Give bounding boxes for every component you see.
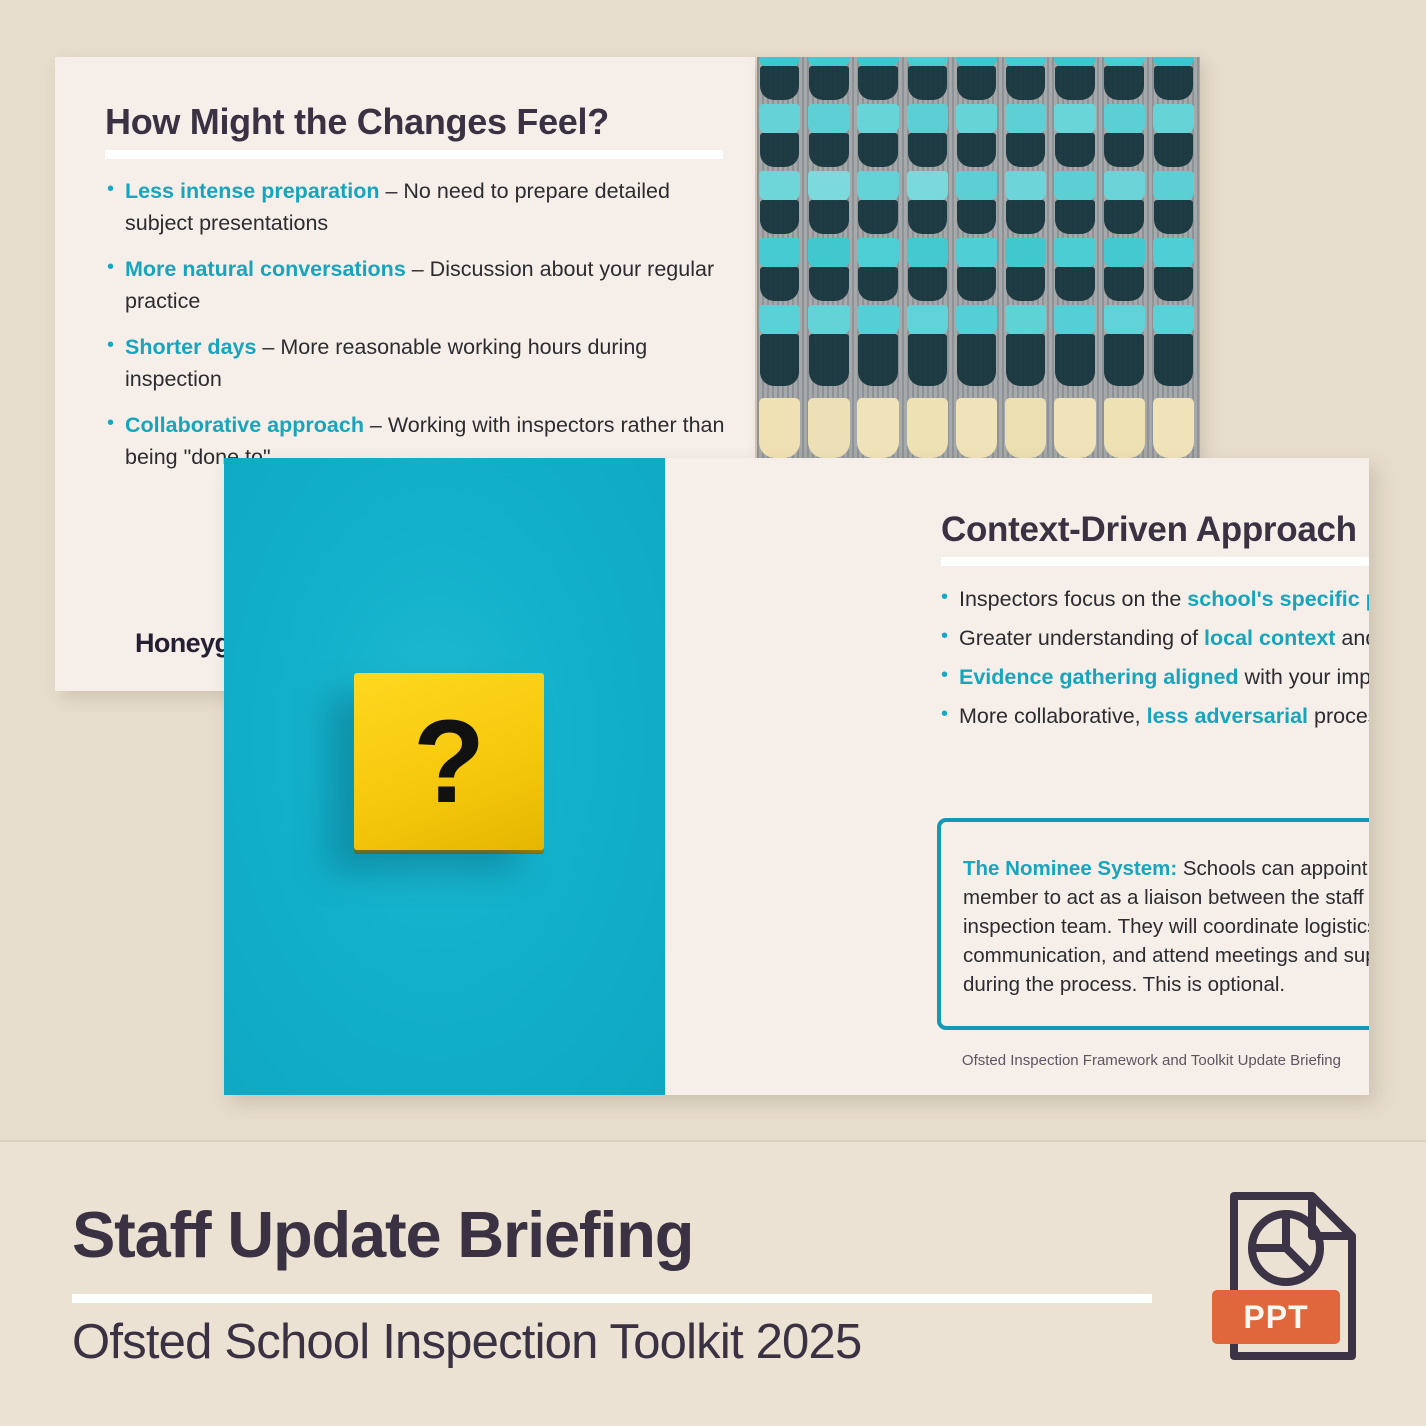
slide1-bullet-list: • Less intense preparation – No need to … xyxy=(103,175,728,487)
bullet-point-icon: • xyxy=(937,700,959,733)
bullet-point-icon: • xyxy=(103,253,125,317)
bullet-pre: More collaborative, xyxy=(959,704,1147,728)
bullet-highlight: Shorter days xyxy=(125,335,256,359)
bullet-highlight: Less intense preparation xyxy=(125,179,380,203)
bullet-highlight: More natural conversations xyxy=(125,257,406,281)
bullet-point-icon: • xyxy=(103,331,125,395)
list-item: • Less intense preparation – No need to … xyxy=(103,175,728,239)
bullet-highlight: Collaborative approach xyxy=(125,413,364,437)
seat-row xyxy=(757,236,1200,303)
bullet-point-icon: • xyxy=(103,409,125,473)
bullet-point-icon: • xyxy=(937,661,959,694)
seat-row-front xyxy=(757,390,1200,458)
bullet-highlight: Evidence gathering aligned xyxy=(959,665,1239,689)
nominee-callout-label: The Nominee System: xyxy=(963,857,1177,880)
list-item: • Evidence gathering aligned with your i… xyxy=(937,661,1369,694)
list-item: • Shorter days – More reasonable working… xyxy=(103,331,728,395)
slide2-bullet-text: Evidence gathering aligned with your imp… xyxy=(959,661,1369,694)
slide2-bullet-text: Inspectors focus on the school's specifi… xyxy=(959,583,1369,616)
bullet-pre: Greater understanding of xyxy=(959,626,1204,650)
bottom-banner: Staff Update Briefing Ofsted School Insp… xyxy=(0,1140,1426,1426)
slide1-bullet-text: More natural conversations – Discussion … xyxy=(125,253,728,317)
bullet-point-icon: • xyxy=(103,175,125,239)
nominee-system-callout: The Nominee System: Schools can appoint … xyxy=(937,818,1369,1030)
slide2-title: Context-Driven Approach xyxy=(941,510,1357,550)
slide1-bullet-text: Less intense preparation – No need to pr… xyxy=(125,175,728,239)
slide2-footer-text: Ofsted Inspection Framework and Toolkit … xyxy=(962,1052,1341,1069)
banner-divider xyxy=(72,1294,1152,1303)
bullet-point-icon: • xyxy=(937,583,959,616)
slide1-title: How Might the Changes Feel? xyxy=(105,101,609,143)
slide-context-driven-approach[interactable]: Context-Driven Approach • Inspectors foc… xyxy=(224,458,1369,1095)
bullet-highlight: less adversarial xyxy=(1147,704,1308,728)
seat-row xyxy=(757,303,1200,370)
slide2-bullet-text: Greater understanding of local context a… xyxy=(959,622,1369,655)
seat-row xyxy=(757,102,1200,169)
bullet-post: process xyxy=(1308,704,1369,728)
bullet-pre: Inspectors focus on the xyxy=(959,587,1187,611)
question-block-image xyxy=(224,458,665,1095)
bullet-post: with your improvement journey xyxy=(1239,665,1369,689)
seat-row xyxy=(757,57,1200,102)
bullet-highlight: local context xyxy=(1204,626,1335,650)
slide1-bullet-text: Shorter days – More reasonable working h… xyxy=(125,331,728,395)
seat-row xyxy=(757,169,1200,236)
slide2-bullet-text: More collaborative, less adversarial pro… xyxy=(959,700,1369,733)
banner-subtitle: Ofsted School Inspection Toolkit 2025 xyxy=(72,1314,861,1370)
bullet-post: and challenges xyxy=(1335,626,1369,650)
slide1-title-underline xyxy=(105,150,723,159)
poster-root: How Might the Changes Feel? • Less inten… xyxy=(0,0,1426,1426)
list-item: • Greater understanding of local context… xyxy=(937,622,1369,655)
list-item: • More collaborative, less adversarial p… xyxy=(937,700,1369,733)
ppt-badge: PPT xyxy=(1212,1290,1340,1344)
slide2-title-underline xyxy=(941,557,1369,566)
list-item: • More natural conversations – Discussio… xyxy=(103,253,728,317)
slide2-bullet-list: • Inspectors focus on the school's speci… xyxy=(937,583,1369,739)
stadium-seats-image xyxy=(757,57,1200,458)
bullet-highlight: school's specific priorities xyxy=(1187,587,1369,611)
nominee-callout-text: The Nominee System: Schools can appoint … xyxy=(963,854,1369,999)
question-block xyxy=(354,673,544,850)
bullet-point-icon: • xyxy=(937,622,959,655)
banner-title: Staff Update Briefing xyxy=(72,1197,693,1272)
ppt-file-icon: PPT xyxy=(1224,1186,1364,1366)
list-item: • Inspectors focus on the school's speci… xyxy=(937,583,1369,616)
slide2-content: Context-Driven Approach • Inspectors foc… xyxy=(665,458,1369,1095)
